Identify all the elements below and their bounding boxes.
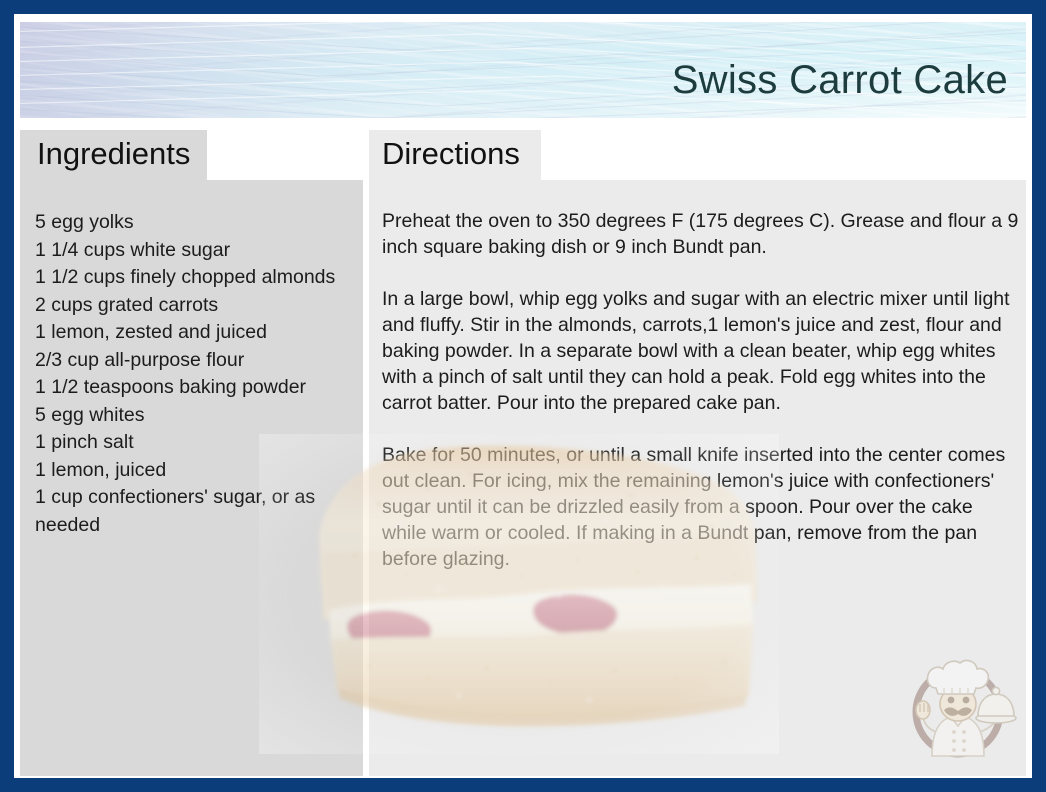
- ingredients-heading: Ingredients: [37, 136, 190, 172]
- list-item: 2/3 cup all-purpose flour: [35, 347, 357, 375]
- ingredients-list: 5 egg yolks 1 1/4 cups white sugar 1 1/2…: [35, 209, 357, 539]
- ingredients-heading-notch: [207, 130, 363, 180]
- directions-heading-notch: [541, 130, 1026, 180]
- list-item: 1 1/4 cups white sugar: [35, 237, 357, 265]
- list-item: 5 egg yolks: [35, 209, 357, 237]
- ingredients-panel: Ingredients 5 egg yolks 1 1/4 cups white…: [20, 130, 363, 776]
- header-banner: Swiss Carrot Cake: [20, 22, 1026, 118]
- directions-text: Preheat the oven to 350 degrees F (175 d…: [382, 208, 1022, 572]
- list-item: 5 egg whites: [35, 402, 357, 430]
- list-item: 2 cups grated carrots: [35, 292, 357, 320]
- recipe-card-page: Swiss Carrot Cake Ingredients 5 egg yolk…: [0, 0, 1046, 792]
- list-item: 1 cup confectioners' sugar, or as needed: [35, 484, 357, 539]
- directions-paragraph: Preheat the oven to 350 degrees F (175 d…: [382, 208, 1022, 260]
- list-item: 1 pinch salt: [35, 429, 357, 457]
- directions-paragraph: In a large bowl, whip egg yolks and suga…: [382, 286, 1022, 416]
- directions-panel: Directions Preheat the oven to 350 degre…: [369, 130, 1026, 776]
- list-item: 1 lemon, juiced: [35, 457, 357, 485]
- list-item: 1 lemon, zested and juiced: [35, 319, 357, 347]
- page-inner-mat: Swiss Carrot Cake Ingredients 5 egg yolk…: [14, 14, 1032, 778]
- page-title: Swiss Carrot Cake: [672, 58, 1008, 103]
- directions-paragraph: Bake for 50 minutes, or until a small kn…: [382, 442, 1022, 572]
- directions-heading: Directions: [382, 136, 520, 172]
- list-item: 1 1/2 teaspoons baking powder: [35, 374, 357, 402]
- list-item: 1 1/2 cups finely chopped almonds: [35, 264, 357, 292]
